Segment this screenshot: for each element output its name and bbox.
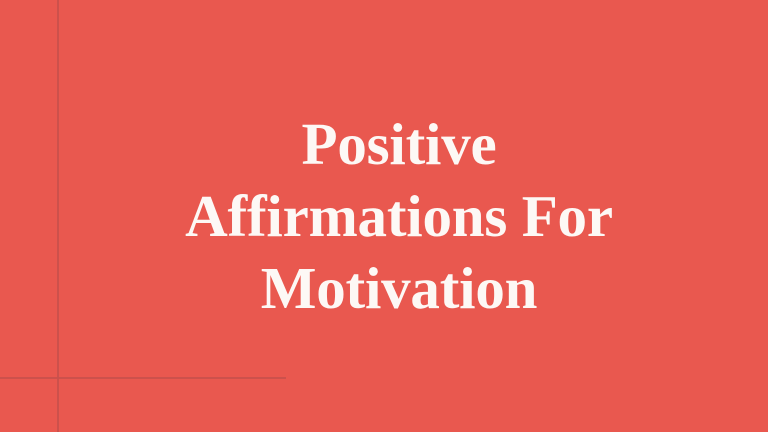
title-slide: Positive Affirmations For Motivation [0,0,768,432]
slide-title: Positive Affirmations For Motivation [0,0,768,432]
title-line-2: Affirmations For [185,180,613,252]
title-line-3: Motivation [261,252,538,324]
title-line-1: Positive [301,108,496,180]
